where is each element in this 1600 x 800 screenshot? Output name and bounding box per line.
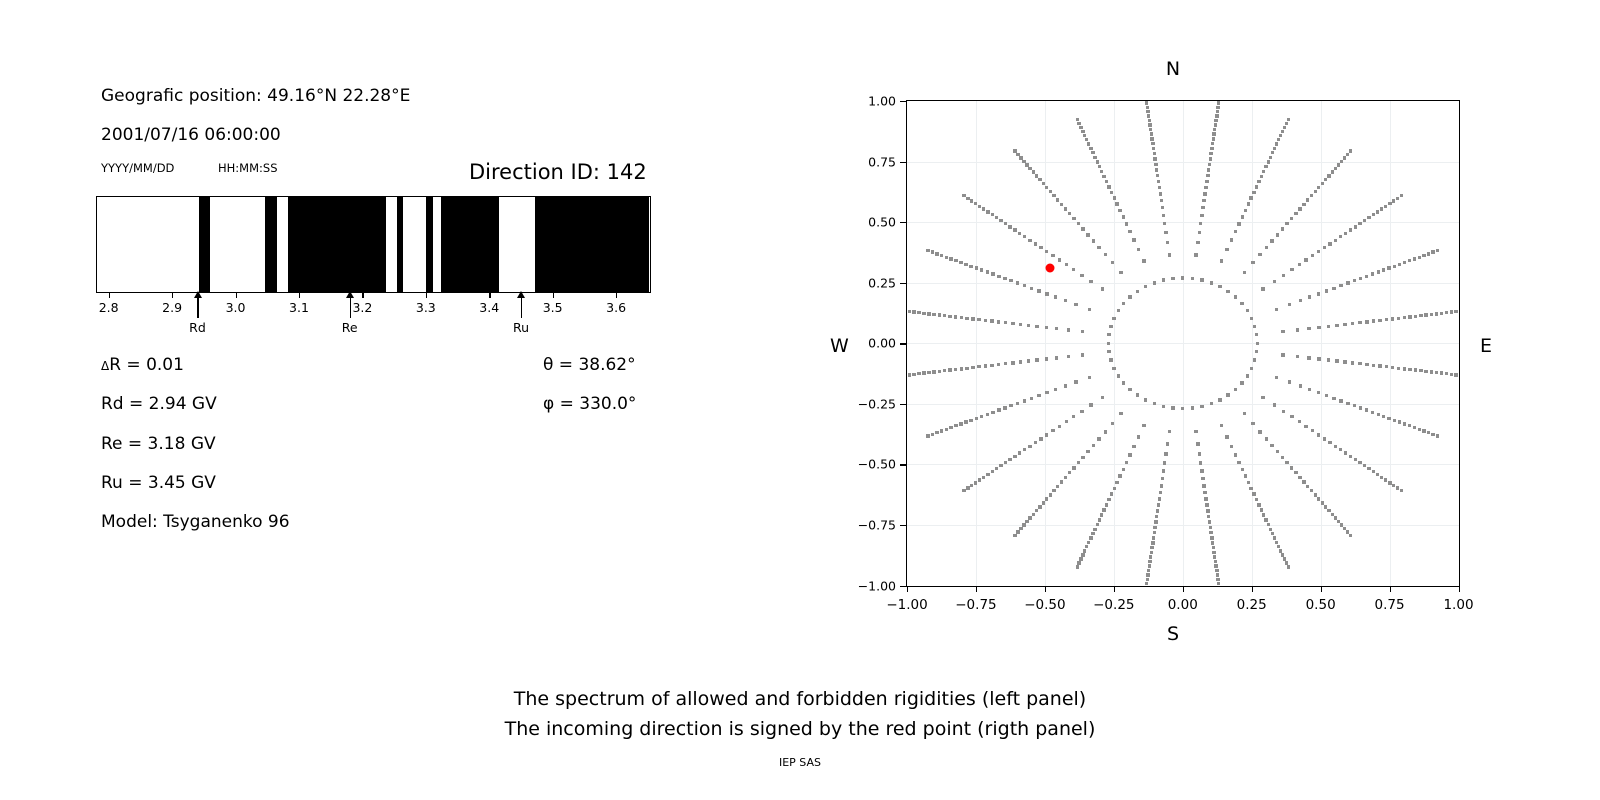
direction-dot [964, 263, 967, 266]
direction-dot [1372, 364, 1375, 367]
direction-dot [1119, 271, 1122, 274]
direction-dot [1181, 407, 1184, 410]
direction-dot [1264, 518, 1267, 521]
direction-dot [1076, 118, 1079, 121]
direction-dot [949, 257, 952, 260]
direction-dot [1068, 471, 1071, 474]
direction-dot [1032, 513, 1035, 516]
direction-dot [1096, 523, 1099, 526]
direction-dot [1323, 246, 1326, 249]
direction-dot [1110, 492, 1113, 495]
direction-dot [1200, 405, 1203, 408]
direction-dot [935, 252, 938, 255]
direction-dot [1358, 461, 1361, 464]
direction-dot [1016, 530, 1019, 533]
direction-dot [1290, 268, 1293, 271]
direction-dot [954, 368, 957, 371]
direction-dot [1408, 368, 1411, 371]
direction-dot [1210, 147, 1213, 150]
direction-dot [1212, 546, 1215, 549]
direction-dot [1391, 366, 1394, 369]
direction-dot [1045, 326, 1048, 329]
direction-dot [1281, 456, 1284, 459]
direction-dot [1287, 118, 1290, 121]
direction-dot [1122, 381, 1125, 384]
direction-dot [1142, 259, 1145, 262]
direction-dot [1028, 516, 1031, 519]
direction-dot [1265, 437, 1268, 440]
direction-dot [1365, 408, 1368, 411]
direction-dot [1042, 182, 1045, 185]
direction-dot [1072, 415, 1075, 418]
direction-dot [949, 426, 952, 429]
direction-dot [1204, 497, 1207, 500]
direction-dot [1164, 452, 1167, 455]
direction-dot [1168, 253, 1171, 256]
direction-dot [1081, 553, 1084, 556]
direction-dot [1089, 536, 1092, 539]
direction-dot [984, 364, 987, 367]
forbidden-band [535, 197, 649, 292]
delta-r-value: R = 0.01 [109, 355, 184, 375]
direction-dot [1282, 410, 1285, 413]
direction-dot [1096, 160, 1099, 163]
direction-dot [1150, 132, 1153, 135]
direction-dot [999, 219, 1002, 222]
direction-dot [1067, 355, 1070, 358]
direction-dot [986, 473, 989, 476]
direction-dot [1359, 277, 1362, 280]
direction-dot [1294, 212, 1297, 215]
direction-dot [1109, 325, 1112, 328]
direction-dot [1209, 152, 1212, 155]
direction-dot [962, 194, 965, 197]
direction-dot [1028, 239, 1031, 242]
direction-dot [1064, 207, 1067, 210]
direction-dot [1240, 302, 1243, 305]
direction-dot [965, 367, 968, 370]
direction-dot [927, 371, 930, 374]
direction-dot [1023, 235, 1026, 238]
direction-dot [986, 210, 989, 213]
direction-dot [1200, 278, 1203, 281]
direction-dot [1171, 406, 1174, 409]
direction-dot [1317, 357, 1320, 360]
direction-dot [1279, 549, 1282, 552]
direction-dot [1200, 214, 1203, 217]
direction-dot [980, 268, 983, 271]
rigidity-tick [299, 293, 300, 298]
y-axis-tick-label: −0.75 [858, 517, 896, 532]
direction-dot [1156, 174, 1159, 177]
direction-dot [931, 250, 934, 253]
direction-dot [1317, 186, 1320, 189]
direction-dot [982, 476, 985, 479]
direction-dot [1104, 253, 1107, 256]
direction-dot [1083, 549, 1086, 552]
direction-dot [1216, 110, 1219, 113]
direction-dot [1194, 253, 1197, 256]
direction-dot [1216, 578, 1219, 581]
direction-dot [938, 313, 941, 316]
direction-dot [1055, 356, 1058, 359]
direction-dot [1119, 412, 1122, 415]
direction-dot [1380, 476, 1383, 479]
rigidity-tick [616, 293, 617, 298]
direction-dot [1302, 480, 1305, 483]
direction-dot [954, 315, 957, 318]
direction-dot [1424, 370, 1427, 373]
direction-dot [1207, 168, 1210, 171]
direction-dot [1393, 265, 1396, 268]
direction-dot [1335, 359, 1338, 362]
direction-dot [1317, 497, 1320, 500]
direction-dot [1234, 453, 1237, 456]
direction-dot [1265, 246, 1268, 249]
direction-dot [1077, 222, 1080, 225]
direction-dot [1211, 541, 1214, 544]
direction-dot [1279, 134, 1282, 137]
direction-dot [1349, 228, 1352, 231]
direction-dot [1100, 513, 1103, 516]
direction-dot [1098, 165, 1101, 168]
direction-dot [1314, 493, 1317, 496]
direction-dot [997, 408, 1000, 411]
direction-dot [1137, 248, 1140, 251]
x-axis-tick-label: −1.00 [886, 597, 927, 613]
direction-dot [1285, 122, 1288, 125]
direction-dot [912, 310, 915, 313]
direction-dot [1321, 182, 1324, 185]
direction-dot [1285, 222, 1288, 225]
direction-dot [922, 312, 925, 315]
direction-dot [1122, 302, 1125, 305]
direction-dot [1214, 119, 1217, 122]
direction-dot [1419, 314, 1422, 317]
direction-dot [908, 373, 911, 376]
direction-dot [1206, 174, 1209, 177]
direction-dot [1157, 180, 1160, 183]
caption-line-1: The spectrum of allowed and forbidden ri… [0, 688, 1600, 710]
direction-dot [1077, 561, 1080, 564]
direction-dot [1298, 420, 1301, 423]
direction-dot [991, 272, 994, 275]
direction-dot [1008, 225, 1011, 228]
direction-dot [917, 311, 920, 314]
direction-dot [1052, 194, 1055, 197]
direction-dot [1408, 315, 1411, 318]
forbidden-band [397, 197, 404, 292]
direction-dot [1261, 287, 1264, 290]
direction-dot [1107, 350, 1110, 353]
direction-dot [984, 319, 987, 322]
x-axis-tick-label: −0.50 [1024, 597, 1065, 613]
direction-dot [1028, 445, 1031, 448]
direction-dot [1205, 503, 1208, 506]
direction-dot [1154, 520, 1157, 523]
direction-dot [1246, 374, 1249, 377]
direction-dot [1058, 258, 1061, 261]
direction-dot [1376, 473, 1379, 476]
direction-dot [1051, 254, 1054, 257]
direction-dot [1105, 180, 1108, 183]
rigidity-tick-label: 3.5 [543, 300, 563, 315]
direction-dot [1087, 541, 1090, 544]
direction-dot [1171, 277, 1174, 280]
forbidden-band [441, 197, 499, 292]
direction-dot [1403, 367, 1406, 370]
direction-dot [978, 478, 981, 481]
direction-dot [1018, 232, 1021, 235]
direction-dot [1430, 313, 1433, 316]
direction-dot [1086, 450, 1089, 453]
direction-dot [1328, 441, 1331, 444]
y-axis-tick [900, 404, 906, 405]
direction-dot [982, 207, 985, 210]
direction-dot [1276, 450, 1279, 453]
direction-dot [1365, 363, 1368, 366]
direction-dot [1427, 252, 1430, 255]
direction-dot [1191, 277, 1194, 280]
direction-dot [1230, 445, 1233, 448]
direction-dot [1384, 205, 1387, 208]
direction-dot [1077, 122, 1080, 125]
direction-dot [1215, 569, 1218, 572]
rigidity-tick-label: 3.4 [479, 300, 499, 315]
direction-dot [1445, 372, 1448, 375]
direction-dot [1367, 216, 1370, 219]
direction-dot [986, 413, 989, 416]
direction-dot [1198, 452, 1201, 455]
direction-dot [1155, 168, 1158, 171]
direction-dot [1162, 469, 1165, 472]
direction-dot [940, 254, 943, 257]
direction-dot [1332, 287, 1335, 290]
selected-direction-marker[interactable] [1046, 264, 1055, 273]
direction-dot [1431, 250, 1434, 253]
phi-param: φ = 330.0° [543, 394, 636, 414]
direction-dot [1450, 373, 1453, 376]
direction-dot [1220, 424, 1223, 427]
direction-dot [1294, 471, 1297, 474]
direction-dot [1327, 358, 1330, 361]
direction-dot [1314, 190, 1317, 193]
direction-dot [1408, 259, 1411, 262]
x-axis-tick [1114, 586, 1115, 592]
direction-dot [1387, 417, 1390, 420]
direction-dot [1250, 367, 1253, 370]
direction-dot [1334, 445, 1337, 448]
x-axis-tick [1390, 586, 1391, 592]
direction-dot [1035, 174, 1038, 177]
direction-dot [1230, 238, 1233, 241]
direction-dot [1016, 402, 1019, 405]
direction-dot [1306, 198, 1309, 201]
y-axis-tick-label: 1.00 [868, 94, 896, 109]
gridline-horizontal [907, 404, 1459, 405]
x-axis-tick [1459, 586, 1460, 592]
x-axis-tick [1321, 586, 1322, 592]
direction-dot [1206, 509, 1209, 512]
direction-dot [1392, 199, 1395, 202]
direction-dot [1351, 361, 1354, 364]
rigidity-marker-label: Rd [189, 320, 206, 335]
direction-dot [1358, 222, 1361, 225]
direction-dot [1408, 424, 1411, 427]
direction-dot [969, 419, 972, 422]
direction-dot [1065, 420, 1068, 423]
direction-dot [1290, 217, 1293, 220]
direction-dot [1285, 461, 1288, 464]
y-axis-tick-label: 0.75 [868, 154, 896, 169]
direction-dot [1359, 406, 1362, 409]
direction-dot [1118, 209, 1121, 212]
direction-dot [1045, 497, 1048, 500]
direction-dot [917, 372, 920, 375]
direction-dot [1251, 261, 1254, 264]
direction-dot [1327, 325, 1330, 328]
direction-dot [1273, 536, 1276, 539]
direction-dot [1244, 209, 1247, 212]
direction-dot [1181, 276, 1184, 279]
direction-dot [1273, 403, 1276, 406]
direction-dot [1311, 429, 1314, 432]
direction-dot [1013, 149, 1016, 152]
datetime-label: 2001/07/16 06:00:00 [101, 125, 281, 145]
direction-dot [1027, 324, 1030, 327]
direction-dot [1298, 207, 1301, 210]
direction-dot [1323, 437, 1326, 440]
direction-dot [1091, 151, 1094, 154]
direction-dot [1325, 289, 1328, 292]
direction-dot [1150, 546, 1153, 549]
x-axis-tick-label: 0.25 [1237, 597, 1267, 613]
direction-dot [1112, 367, 1115, 370]
direction-dot [1202, 484, 1205, 487]
direction-dot [1067, 328, 1070, 331]
direction-dot [1344, 451, 1347, 454]
x-axis-tick-label: −0.75 [955, 597, 996, 613]
direction-dot [1064, 299, 1067, 302]
direction-dot [1003, 277, 1006, 280]
direction-dot [1431, 433, 1434, 436]
y-axis-tick [900, 525, 906, 526]
direction-dot [1241, 215, 1244, 218]
direction-dot [1413, 257, 1416, 260]
direction-dot [1334, 239, 1337, 242]
direction-dot [1212, 551, 1215, 554]
direction-dot [1080, 274, 1083, 277]
direction-dot [1092, 444, 1095, 447]
direction-dot [1160, 199, 1163, 202]
direction-dot [1354, 225, 1357, 228]
direction-dot [991, 470, 994, 473]
x-axis-tick [1252, 586, 1253, 592]
y-axis-tick [900, 162, 906, 163]
direction-dot [1346, 153, 1349, 156]
direction-dot [1391, 317, 1394, 320]
direction-dot [969, 265, 972, 268]
direction-dot [1403, 261, 1406, 264]
direction-dot [931, 433, 934, 436]
direction-dot [1349, 455, 1352, 458]
direction-dot [1079, 557, 1082, 560]
direction-dot [1107, 185, 1110, 188]
direction-dot [1164, 231, 1167, 234]
direction-dot [1045, 357, 1048, 360]
direction-dot [1250, 317, 1253, 320]
direction-dot [1060, 203, 1063, 206]
direction-dot [1377, 413, 1380, 416]
direction-dot [1367, 467, 1370, 470]
direction-dot [1298, 476, 1301, 479]
direction-dot [1349, 149, 1352, 152]
direction-dot [1353, 404, 1356, 407]
direction-dot [1343, 156, 1346, 159]
direction-dot [1101, 396, 1104, 399]
direction-dot [1128, 295, 1131, 298]
y-axis-tick-label: 0.00 [868, 336, 896, 351]
direction-dot [1148, 123, 1151, 126]
direction-dot [1304, 258, 1307, 261]
rigidity-tick [172, 293, 173, 298]
direction-dot [926, 249, 929, 252]
direction-dot [1122, 215, 1125, 218]
direction-dot [1089, 147, 1092, 150]
direction-dot [1074, 380, 1077, 383]
direction-dot [1194, 430, 1197, 433]
direction-dot [1019, 156, 1022, 159]
direction-dot [1288, 380, 1291, 383]
direction-dot [997, 320, 1000, 323]
forbidden-band [265, 197, 277, 292]
compass-south-label: S [1167, 623, 1179, 645]
direction-dot [1430, 370, 1433, 373]
direction-dot [1011, 322, 1014, 325]
direction-dot [1310, 489, 1313, 492]
direction-dot [1115, 481, 1118, 484]
rigidity-tick [236, 293, 237, 298]
direction-dot [1166, 241, 1169, 244]
arrow-head-icon [517, 291, 525, 298]
rigidity-spectrum-panel: Geografic position: 49.16°N 22.28°E 2001… [0, 0, 790, 800]
direction-dot [943, 314, 946, 317]
x-axis-tick [1183, 586, 1184, 592]
direction-dot [1093, 528, 1096, 531]
direction-dot [1155, 515, 1158, 518]
direction-dot [1253, 358, 1256, 361]
direction-dot [1100, 170, 1103, 173]
direction-dot [1385, 365, 1388, 368]
direction-dot [1030, 287, 1033, 290]
compass-north-label: N [1166, 58, 1180, 80]
direction-dot [1353, 279, 1356, 282]
caption-line-2: The incoming direction is signed by the … [0, 718, 1600, 740]
direction-dot [1307, 356, 1310, 359]
direction-dot [1160, 484, 1163, 487]
direction-dot [1146, 106, 1149, 109]
direction-dot [1288, 303, 1291, 306]
direction-dot [1158, 186, 1161, 189]
y-axis-tick [900, 586, 906, 587]
direction-dot [948, 368, 951, 371]
y-axis-tick-label: −0.25 [858, 396, 896, 411]
direction-dot [1079, 126, 1082, 129]
direction-dot [1273, 147, 1276, 150]
direction-dot [1166, 442, 1169, 445]
direction-dot [1086, 233, 1089, 236]
direction-dot [1440, 312, 1443, 315]
